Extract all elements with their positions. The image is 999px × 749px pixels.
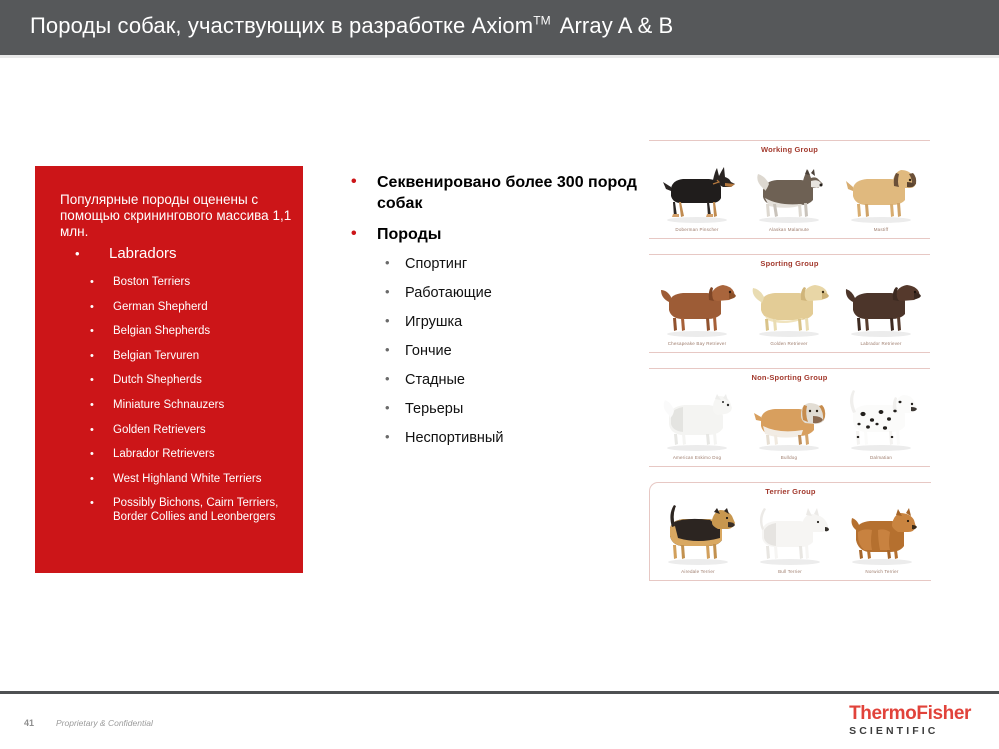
alaskan-malamute-icon bbox=[745, 158, 833, 224]
dog-illustration-slot: Doberman Pinscher bbox=[653, 154, 741, 232]
dog-illustration-slot: Chesapeake Bay Retriever bbox=[653, 268, 741, 346]
bullet-icon: • bbox=[90, 497, 94, 511]
middle-bullet-column: • Секвенировано более 300 пород собак • … bbox=[347, 172, 637, 458]
dog-caption: Doberman Pinscher bbox=[653, 227, 741, 232]
bullet-icon: • bbox=[351, 223, 357, 244]
bullet-icon: • bbox=[385, 399, 390, 417]
airedale-terrier-icon bbox=[654, 500, 742, 566]
list-item-label: Гончие bbox=[405, 343, 452, 359]
bullet-icon: • bbox=[90, 325, 94, 338]
red-panel-heading: Популярные породы оценены с помощью скри… bbox=[60, 192, 294, 240]
dog-illustration-slot: American Eskimo Dog bbox=[653, 382, 741, 460]
list-item: • Labrador Retrievers bbox=[60, 448, 296, 461]
bullet-icon: • bbox=[90, 350, 94, 363]
dog-illustration-slot: Mastiff bbox=[837, 154, 925, 232]
dog-caption: Airedale Terrier bbox=[654, 569, 742, 574]
dog-group-label: Working Group bbox=[649, 145, 930, 154]
dog-group-label: Sporting Group bbox=[649, 259, 930, 268]
list-item: • Golden Retrievers bbox=[60, 424, 296, 437]
chesapeake-bay-retriever-icon bbox=[653, 272, 741, 338]
red-callout-panel: Популярные породы оценены с помощью скри… bbox=[35, 166, 303, 573]
list-item-label: Dutch Shepherds bbox=[113, 374, 202, 386]
list-item-label: Стадные bbox=[405, 372, 465, 388]
list-item: • Belgian Shepherds bbox=[60, 325, 296, 338]
list-item: • Стадные bbox=[347, 371, 637, 389]
dog-illustration-slot: Airedale Terrier bbox=[654, 496, 742, 574]
list-item-label: Labradors bbox=[109, 245, 177, 262]
dog-illustration-slot: Dalmatian bbox=[837, 382, 925, 460]
dog-breed-image-panels: Working Group Doberman Pinscher bbox=[649, 140, 930, 596]
list-item: • Терьеры bbox=[347, 400, 637, 418]
list-item-label: Golden Retrievers bbox=[113, 424, 206, 436]
dog-caption: Alaskan Malamute bbox=[745, 227, 833, 232]
bullet-icon: • bbox=[90, 374, 94, 387]
bullet-icon: • bbox=[90, 473, 94, 486]
bullet-icon: • bbox=[90, 399, 94, 412]
dog-caption: American Eskimo Dog bbox=[653, 455, 741, 460]
dog-illustration-slot: Labrador Retriever bbox=[837, 268, 925, 346]
list-item: • German Shepherd bbox=[60, 301, 296, 314]
page-title: Породы собак, участвующих в разработке A… bbox=[30, 13, 673, 39]
dog-group-panel: Terrier Group Airedale Terrier bbox=[649, 482, 931, 581]
list-item: • Секвенировано более 300 пород собак bbox=[347, 172, 637, 214]
dog-caption: Mastiff bbox=[837, 227, 925, 232]
norwich-terrier-icon bbox=[838, 500, 926, 566]
list-item-label: Неспортивный bbox=[405, 430, 503, 446]
thermofisher-logo: ThermoFisher SCIENTIFIC bbox=[849, 704, 971, 737]
dog-caption: Bull Terrier bbox=[746, 569, 834, 574]
footer-divider bbox=[0, 691, 999, 694]
bullet-icon: • bbox=[90, 276, 94, 289]
logo-subtitle: SCIENTIFIC bbox=[849, 725, 971, 737]
dog-group-panel: Working Group Doberman Pinscher bbox=[649, 140, 930, 239]
list-item: • Спортинг bbox=[347, 255, 637, 273]
list-item: • Работающие bbox=[347, 284, 637, 302]
list-item-label: Секвенировано более 300 пород собак bbox=[377, 174, 637, 212]
golden-retriever-icon bbox=[745, 272, 833, 338]
dog-illustration-slot: Golden Retriever bbox=[745, 268, 833, 346]
dog-illustration-slot: Bulldog bbox=[745, 382, 833, 460]
bullet-icon: • bbox=[75, 245, 80, 263]
dog-group-panel: Non-Sporting Group American Eskimo Dog bbox=[649, 368, 930, 467]
dog-caption: Labrador Retriever bbox=[837, 341, 925, 346]
mastiff-icon bbox=[837, 158, 925, 224]
list-item-label: Породы bbox=[377, 226, 441, 243]
page-number: 41 bbox=[24, 718, 34, 728]
logo-wordmark: ThermoFisher bbox=[849, 704, 971, 724]
confidentiality-notice: Proprietary & Confidential bbox=[56, 718, 153, 728]
list-item-label: West Highland White Terriers bbox=[113, 473, 262, 485]
list-item-label: Belgian Shepherds bbox=[113, 325, 210, 337]
list-item: • Boston Terriers bbox=[60, 276, 296, 289]
dog-caption: Golden Retriever bbox=[745, 341, 833, 346]
dog-group-label: Terrier Group bbox=[650, 487, 931, 496]
list-item: • Неспортивный bbox=[347, 429, 637, 447]
bullet-icon: • bbox=[90, 424, 94, 437]
dog-illustration-slot: Bull Terrier bbox=[746, 496, 834, 574]
bullet-icon: • bbox=[90, 301, 94, 314]
bullet-icon: • bbox=[385, 370, 390, 388]
list-item-label: Boston Terriers bbox=[113, 276, 190, 288]
list-item-label: Miniature Schnauzers bbox=[113, 399, 224, 411]
bullet-icon: • bbox=[385, 312, 390, 330]
dog-group-panel: Sporting Group Chesapeake Bay Retriever bbox=[649, 254, 930, 353]
list-item: • Miniature Schnauzers bbox=[60, 399, 296, 412]
doberman-pinscher-icon bbox=[653, 158, 741, 224]
dog-caption: Chesapeake Bay Retriever bbox=[653, 341, 741, 346]
header-underline bbox=[0, 55, 999, 58]
list-item-label: Терьеры bbox=[405, 401, 463, 417]
list-item-label: Labrador Retrievers bbox=[113, 448, 215, 460]
dog-caption: Bulldog bbox=[745, 455, 833, 460]
list-item-label: Работающие bbox=[405, 285, 492, 301]
list-item: • Dutch Shepherds bbox=[60, 374, 296, 387]
list-item-label: Possibly Bichons, Cairn Terriers, Border… bbox=[113, 497, 278, 523]
list-item: • Породы bbox=[347, 224, 637, 245]
dog-group-label: Non-Sporting Group bbox=[649, 373, 930, 382]
labrador-retriever-icon bbox=[837, 272, 925, 338]
list-item: • West Highland White Terriers bbox=[60, 473, 296, 486]
bullet-icon: • bbox=[385, 283, 390, 301]
list-item: • Belgian Tervuren bbox=[60, 350, 296, 363]
american-eskimo-dog-icon bbox=[653, 386, 741, 452]
list-item-label: Belgian Tervuren bbox=[113, 350, 199, 362]
trademark-superscript: TM bbox=[533, 14, 551, 28]
dog-caption: Norwich Terrier bbox=[838, 569, 926, 574]
list-item: • Possibly Bichons, Cairn Terriers, Bord… bbox=[60, 497, 296, 524]
bullet-icon: • bbox=[90, 448, 94, 461]
page-title-main: Породы собак, участвующих в разработке A… bbox=[30, 13, 533, 38]
list-item: • Игрушка bbox=[347, 313, 637, 331]
dog-illustration-slot: Norwich Terrier bbox=[838, 496, 926, 574]
dog-caption: Dalmatian bbox=[837, 455, 925, 460]
list-item-label: German Shepherd bbox=[113, 301, 208, 313]
bullet-icon: • bbox=[385, 254, 390, 272]
list-item-label: Игрушка bbox=[405, 314, 462, 330]
list-item-label: Спортинг bbox=[405, 256, 467, 272]
dalmatian-icon bbox=[837, 386, 925, 452]
bull-terrier-icon bbox=[746, 500, 834, 566]
red-panel-breed-list: • Labradors • Boston Terriers • German S… bbox=[60, 245, 296, 536]
bullet-icon: • bbox=[385, 428, 390, 446]
dog-illustration-slot: Alaskan Malamute bbox=[745, 154, 833, 232]
bullet-icon: • bbox=[351, 171, 357, 192]
bulldog-icon bbox=[745, 386, 833, 452]
list-item: • Labradors bbox=[60, 245, 296, 263]
list-item: • Гончие bbox=[347, 342, 637, 360]
bullet-icon: • bbox=[385, 341, 390, 359]
page-title-tail: Array A & B bbox=[560, 13, 674, 38]
